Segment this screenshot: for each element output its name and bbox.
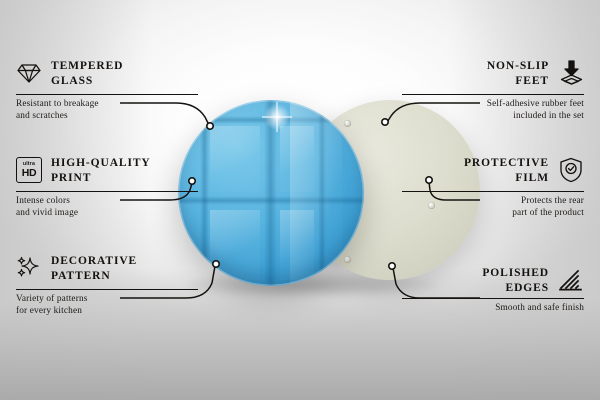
feature-non-slip-feet[interactable]: NON-SLIP FEET Self-adhesive rubber feet … [402, 58, 584, 122]
leader-endpoint-decorative-pattern [213, 261, 219, 267]
feature-high-quality-print[interactable]: ultra HD HIGH-QUALITY PRINT Intense colo… [16, 155, 198, 219]
feature-description: Intense colors and vivid image [16, 196, 198, 219]
diamond-icon [16, 58, 42, 88]
feature-divider [16, 94, 198, 95]
feature-decorative-pattern[interactable]: DECORATIVE PATTERN Variety of patterns f… [16, 253, 198, 317]
feature-title: NON-SLIP FEET [487, 58, 549, 89]
ultra-hd-icon: ultra HD [16, 155, 42, 185]
feature-divider [402, 191, 584, 192]
press-down-arrow-icon [558, 58, 584, 88]
feature-description: Smooth and safe finish [402, 303, 584, 315]
leader-endpoint-tempered-glass [207, 123, 213, 129]
leader-endpoint-polished-edges [389, 263, 395, 269]
feature-description: Self-adhesive rubber feet included in th… [402, 99, 584, 122]
shield-check-icon [558, 155, 584, 185]
feature-title: PROTECTIVE FILM [464, 155, 549, 186]
feature-description: Protects the rear part of the product [402, 196, 584, 219]
feature-title: TEMPERED GLASS [51, 58, 123, 89]
diagonal-stripes-icon [558, 265, 584, 295]
feature-title: DECORATIVE PATTERN [51, 253, 137, 284]
feature-divider [16, 289, 198, 290]
feature-title: HIGH-QUALITY PRINT [51, 155, 151, 186]
feature-divider [402, 298, 584, 299]
feature-divider [16, 191, 198, 192]
feature-description: Variety of patterns for every kitchen [16, 294, 198, 317]
leader-endpoint-non-slip-feet [382, 119, 388, 125]
feature-description: Resistant to breakage and scratches [16, 99, 198, 122]
feature-polished-edges[interactable]: POLISHED EDGES Smooth and safe finish [402, 265, 584, 315]
feature-tempered-glass[interactable]: TEMPERED GLASS Resistant to breakage and… [16, 58, 198, 122]
feature-divider [402, 94, 584, 95]
feature-protective-film[interactable]: PROTECTIVE FILM Protects the rear part o… [402, 155, 584, 219]
feature-title: POLISHED EDGES [482, 265, 549, 296]
sparkles-icon [16, 253, 42, 283]
product-infographic: TEMPERED GLASS Resistant to breakage and… [0, 0, 600, 400]
